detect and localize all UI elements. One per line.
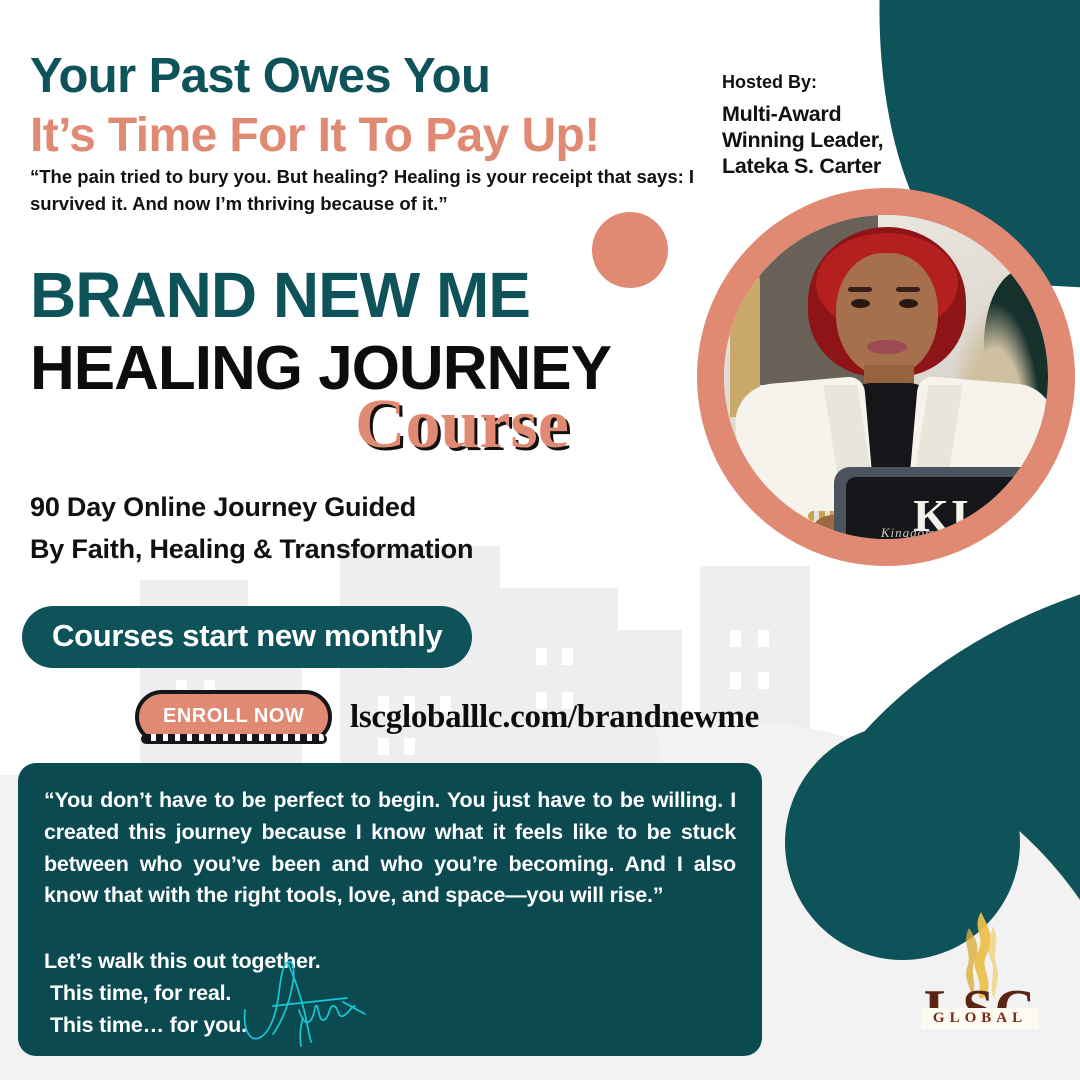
headline-quote: “The pain tried to bury you. But healing… (30, 163, 695, 218)
salmon-circle-accent (592, 212, 668, 288)
signature-mark (243, 958, 383, 1048)
portrait-ring: KI Kingdom Influencer (697, 188, 1075, 566)
lsc-global-logo: LSC GLOBAL (915, 930, 1045, 1040)
laptop-script-text: Kingdom Influencer (846, 525, 1038, 539)
course-title-script-word: Course (355, 390, 569, 460)
course-subtitle: 90 Day Online Journey Guided By Faith, H… (30, 487, 473, 571)
schedule-badge: Courses start new monthly (22, 606, 472, 668)
hosted-by-block: Hosted By: Multi-Award Winning Leader, L… (722, 72, 922, 179)
enrollment-url[interactable]: lscgloballlc.com/brandnewme (350, 699, 759, 736)
cta-group: ENROLL NOW (135, 690, 332, 744)
headline-line-1: Your Past Owes You (30, 52, 490, 101)
course-subtitle-line-1: 90 Day Online Journey Guided (30, 487, 473, 529)
closing-line-1: Let’s walk this out together. (44, 946, 736, 978)
hosted-by-label: Hosted By: (722, 72, 922, 94)
host-portrait-photo: KI Kingdom Influencer (724, 215, 1048, 539)
logo-wordmark: GLOBAL (921, 1008, 1039, 1029)
laptop-screen: KI Kingdom Influencer (846, 477, 1038, 539)
course-title-line-1: BRAND NEW ME (30, 263, 530, 327)
testimonial-body: “You don’t have to be perfect to begin. … (44, 785, 736, 912)
closing-line-3: This time… for you. (44, 1010, 736, 1042)
testimonial-closing: Let’s walk this out together. This time,… (44, 946, 736, 1041)
poster-canvas: KI Kingdom Influencer Your Past Owes You… (0, 0, 1080, 1080)
host-name: Multi-Award Winning Leader, Lateka S. Ca… (722, 101, 922, 180)
closing-line-2: This time, for real. (44, 978, 736, 1010)
headline-line-2: It’s Time For It To Pay Up! (30, 112, 600, 160)
course-subtitle-line-2: By Faith, Healing & Transformation (30, 529, 473, 571)
testimonial-card: “You don’t have to be perfect to begin. … (18, 763, 762, 1056)
enroll-button-shadow (141, 734, 327, 744)
